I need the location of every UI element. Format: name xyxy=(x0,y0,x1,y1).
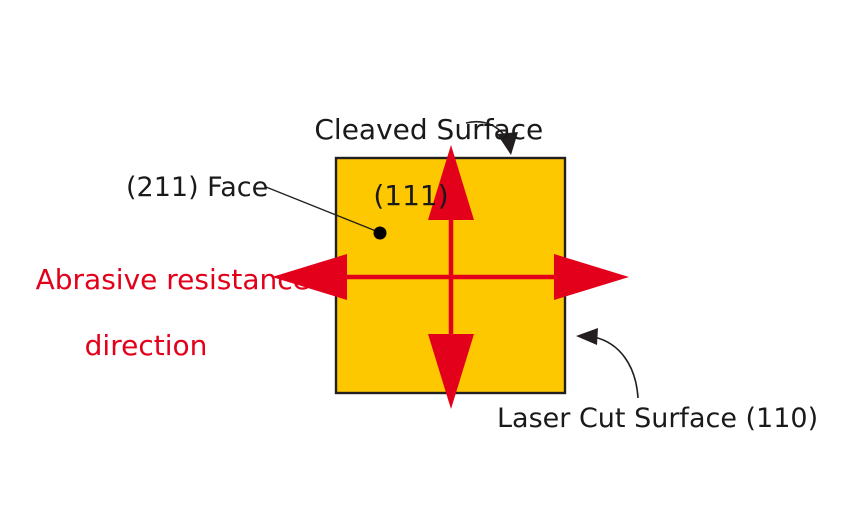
arrow-right-head xyxy=(554,254,629,300)
label-abrasive-line1: Abrasive resistance xyxy=(36,263,310,296)
crystal-orientation-diagram: Cleaved Surface (111) (211) Face Abrasiv… xyxy=(0,0,852,511)
label-cleaved-surface-line2: (111) xyxy=(276,179,546,212)
label-laser-cut-surface: Laser Cut Surface (110) xyxy=(497,403,818,435)
label-abrasive-line2: direction xyxy=(0,329,292,362)
label-cleaved-surface: Cleaved Surface (111) xyxy=(276,80,546,278)
label-abrasive-resistance-direction: Abrasive resistance direction xyxy=(0,230,292,428)
leader-curve-laser-cut xyxy=(594,337,638,398)
leader-curve-laser-cut-head xyxy=(576,328,598,345)
label-face-211: (211) Face xyxy=(126,172,268,204)
label-cleaved-surface-line1: Cleaved Surface xyxy=(314,113,543,146)
